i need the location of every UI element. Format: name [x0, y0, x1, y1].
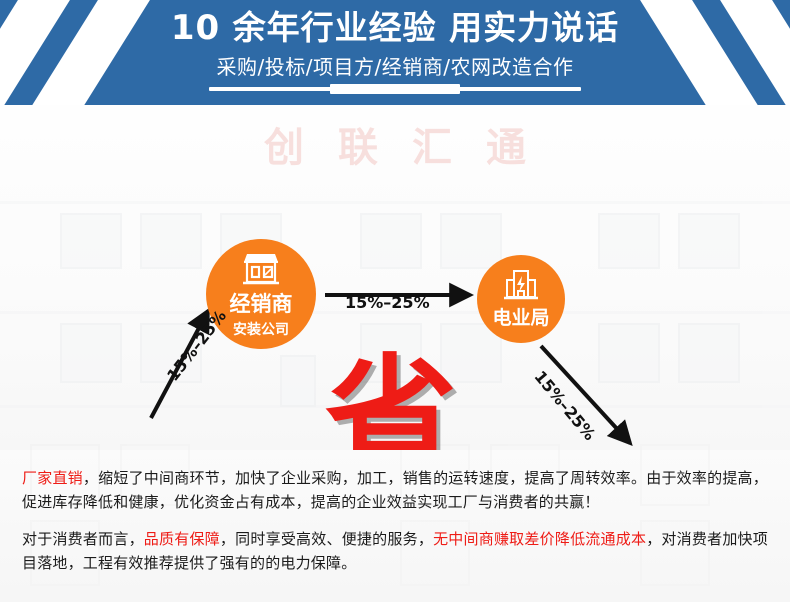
footer-paragraph-2-text-a: 对于消费者而言，	[22, 530, 144, 548]
footer-highlight-no-middleman: 无中间商赚取差价降低流通成本	[433, 530, 646, 548]
node-dealer-label: 经销商	[230, 288, 293, 318]
footer-highlight-quality: 品质有保障	[144, 530, 220, 548]
footer-highlight-direct-sales: 厂家直销	[22, 469, 83, 487]
footer-paragraph-1-text: ，缩短了中间商环节，加快了企业采购，加工，销售的运转速度，提高了周转效率。由于效…	[22, 469, 768, 511]
center-save-character: 省	[325, 353, 457, 450]
header-divider-rule	[209, 87, 581, 91]
footer-paragraph-2: 对于消费者而言，品质有保障，同时享受高效、便捷的服务，无中间商赚取差价降低流通成…	[22, 527, 768, 576]
header-title-text: 余年行业经验 用实力说话	[233, 8, 620, 47]
header-title: 10 余年行业经验 用实力说话	[171, 8, 619, 48]
header-content: 10 余年行业经验 用实力说话 采购/投标/项目方/经销商/农网改造合作	[0, 0, 790, 105]
flow-diagram: 创联汇通 省	[0, 105, 790, 450]
node-power-bureau-label: 电业局	[492, 303, 549, 330]
node-dealer[interactable]: 经销商 安装公司	[206, 239, 316, 349]
header-banner: 10 余年行业经验 用实力说话 采购/投标/项目方/经销商/农网改造合作	[0, 0, 790, 105]
infographic-page: 10 余年行业经验 用实力说话 采购/投标/项目方/经销商/农网改造合作	[0, 0, 790, 602]
footer-description: 厂家直销，缩短了中间商环节，加快了企业采购，加工，销售的运转速度，提高了周转效率…	[0, 450, 790, 602]
footer-paragraph-1: 厂家直销，缩短了中间商环节，加快了企业采购，加工，销售的运转速度，提高了周转效率…	[22, 466, 768, 515]
node-power-bureau[interactable]: 电业局	[477, 255, 565, 343]
storefront-icon	[240, 250, 282, 286]
header-title-number: 10	[171, 8, 220, 48]
power-building-icon	[503, 268, 539, 302]
footer-paragraph-2-text-b: ，同时享受高效、便捷的服务，	[220, 530, 433, 548]
header-subtitle: 采购/投标/项目方/经销商/农网改造合作	[217, 51, 574, 80]
node-dealer-sublabel: 安装公司	[233, 319, 289, 339]
arrow-label-dealer-to-bureau: 15%–25%	[345, 293, 430, 312]
